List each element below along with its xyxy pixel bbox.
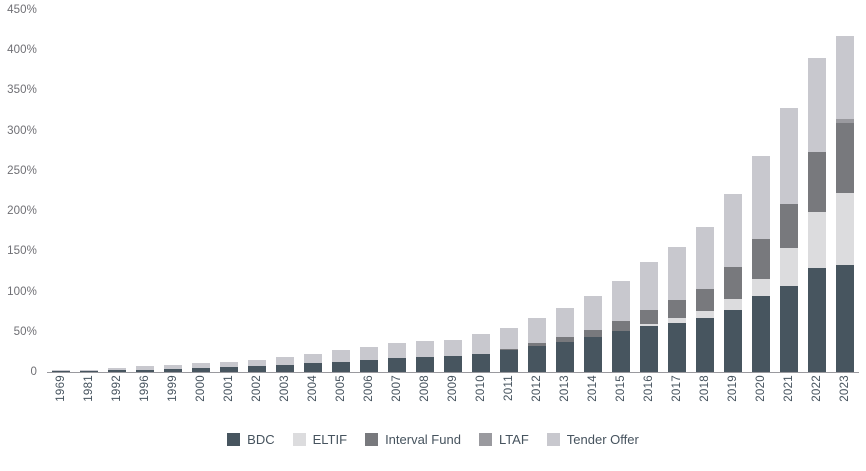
bar-segment: [724, 299, 742, 310]
bar-segment: [724, 194, 742, 267]
bar-segment: [416, 357, 434, 372]
x-axis-label-cell: 1969: [47, 375, 75, 423]
bar-segment: [584, 337, 602, 372]
bar-column[interactable]: [635, 10, 663, 372]
bar-segment: [696, 318, 714, 372]
x-axis-tick-label: 2015: [615, 375, 627, 402]
x-axis-label-cell: 2020: [747, 375, 775, 423]
chart-legend: BDCELTIFInterval FundLTAFTender Offer: [0, 432, 866, 447]
x-axis-tick-label: 1999: [167, 375, 179, 402]
bar-segment: [836, 123, 854, 193]
y-axis-tick-label: 0: [31, 366, 38, 378]
x-axis-label-cell: 2015: [607, 375, 635, 423]
bar-segment: [724, 310, 742, 372]
bar-stack: [640, 262, 658, 372]
bar-segment: [360, 347, 378, 360]
bar-segment: [444, 356, 462, 372]
bar-segment: [696, 289, 714, 311]
bar-stack: [220, 362, 238, 372]
bar-column[interactable]: [691, 10, 719, 372]
bar-segment: [304, 354, 322, 364]
bar-stack: [332, 350, 350, 372]
bar-stack: [668, 247, 686, 372]
bar-segment: [556, 342, 574, 372]
bar-segment: [584, 296, 602, 330]
plot-area: [47, 10, 859, 372]
bar-segment: [472, 354, 490, 373]
x-axis-label-cell: 2010: [467, 375, 495, 423]
bar-stack: [724, 194, 742, 372]
bar-column[interactable]: [271, 10, 299, 372]
bar-column[interactable]: [327, 10, 355, 372]
bar-segment: [668, 323, 686, 372]
legend-swatch-icon: [547, 433, 560, 446]
bar-segment: [808, 152, 826, 212]
x-axis-tick-label: 1969: [55, 375, 67, 402]
bar-segment: [640, 310, 658, 324]
x-axis-tick-label: 2011: [503, 375, 515, 401]
bar-segment: [724, 267, 742, 298]
bar-stack: [500, 328, 518, 372]
bar-stack: [304, 354, 322, 372]
legend-label: LTAF: [499, 432, 529, 447]
bar-column[interactable]: [467, 10, 495, 372]
bar-column[interactable]: [663, 10, 691, 372]
y-axis-tick-label: 350%: [7, 84, 37, 96]
bar-column[interactable]: [579, 10, 607, 372]
x-axis-tick-label: 2000: [195, 375, 207, 402]
bar-segment: [500, 328, 518, 350]
x-axis-tick-label: 2005: [335, 375, 347, 402]
bar-segment: [612, 321, 630, 331]
x-axis-tick-label: 2003: [279, 375, 291, 402]
x-axis-label-cell: 1992: [103, 375, 131, 423]
bar-column[interactable]: [299, 10, 327, 372]
x-axis-tick-label: 2006: [363, 375, 375, 402]
bar-segment: [780, 204, 798, 248]
x-axis-label-cell: 2007: [383, 375, 411, 423]
bar-segment: [388, 343, 406, 357]
legend-swatch-icon: [479, 433, 492, 446]
y-axis-tick-label: 100%: [7, 286, 37, 298]
y-axis-tick-label: 250%: [7, 165, 37, 177]
bar-segment: [276, 357, 294, 365]
x-axis-tick-label: 2010: [475, 375, 487, 402]
bar-column[interactable]: [159, 10, 187, 372]
y-axis-tick-label: 300%: [7, 125, 37, 137]
bar-segment: [472, 334, 490, 353]
bar-segment: [640, 262, 658, 310]
x-axis-tick-label: 2019: [727, 375, 739, 402]
bar-segment: [332, 362, 350, 372]
x-axis-tick-label: 2016: [643, 375, 655, 402]
x-axis-label-cell: 2000: [187, 375, 215, 423]
x-axis-tick-label: 2017: [671, 375, 683, 402]
x-axis-label-cell: 2011: [495, 375, 523, 423]
bar-segment: [668, 247, 686, 300]
bar-segment: [808, 58, 826, 153]
bar-column[interactable]: [215, 10, 243, 372]
x-axis-tick-label: 2013: [559, 375, 571, 402]
x-axis-label-cell: 2004: [299, 375, 327, 423]
bar-segment: [640, 326, 658, 372]
bar-segment: [808, 268, 826, 372]
x-axis-label-cell: 2014: [579, 375, 607, 423]
bar-column[interactable]: [383, 10, 411, 372]
bar-column[interactable]: [75, 10, 103, 372]
bar-column[interactable]: [803, 10, 831, 372]
bar-segment: [304, 363, 322, 372]
x-axis-label-cell: 2012: [523, 375, 551, 423]
x-axis-tick-label: 2001: [223, 375, 235, 402]
bar-column[interactable]: [131, 10, 159, 372]
bar-stack: [444, 340, 462, 372]
bar-stack: [696, 227, 714, 372]
bar-stack: [388, 343, 406, 372]
bar-segment: [416, 341, 434, 356]
x-axis-tick-label: 2018: [699, 375, 711, 402]
x-axis-label-cell: 2001: [215, 375, 243, 423]
x-axis-label-cell: 2008: [411, 375, 439, 423]
bar-segment: [696, 311, 714, 318]
bar-column[interactable]: [607, 10, 635, 372]
legend-label: ELTIF: [313, 432, 347, 447]
bar-segment: [388, 358, 406, 372]
bar-stack: [836, 36, 854, 372]
x-axis-label-cell: 2018: [691, 375, 719, 423]
bar-segment: [780, 248, 798, 286]
bar-segment: [276, 365, 294, 372]
bar-segment: [808, 212, 826, 268]
x-axis-tick-label: 2021: [783, 375, 795, 402]
bar-stack: [584, 296, 602, 372]
x-axis-label-cell: 1981: [75, 375, 103, 423]
bar-segment: [836, 36, 854, 119]
bar-stack: [472, 334, 490, 372]
bar-column[interactable]: [47, 10, 75, 372]
bar-column[interactable]: [411, 10, 439, 372]
x-axis-tick-label: 2022: [811, 375, 823, 402]
bar-stack: [528, 318, 546, 372]
y-axis-tick-label: 450%: [7, 4, 37, 16]
legend-label: Interval Fund: [385, 432, 461, 447]
bar-stack: [780, 108, 798, 372]
bar-column[interactable]: [551, 10, 579, 372]
x-axis-label-cell: 2002: [243, 375, 271, 423]
legend-swatch-icon: [365, 433, 378, 446]
bar-column[interactable]: [775, 10, 803, 372]
x-axis-tick-label: 2014: [587, 375, 599, 402]
x-axis-label-cell: 2022: [803, 375, 831, 423]
bar-column[interactable]: [719, 10, 747, 372]
x-axis-labels: 1969198119921996199920002001200220032004…: [47, 375, 859, 423]
y-axis: 450%400%350%300%250%200%150%100%50%0: [0, 10, 43, 372]
legend-label: Tender Offer: [567, 432, 639, 447]
x-axis-tick-label: 1981: [83, 375, 95, 402]
y-axis-tick-label: 50%: [14, 326, 37, 338]
y-axis-tick-label: 150%: [7, 245, 37, 257]
bar-column[interactable]: [243, 10, 271, 372]
x-axis-tick-label: 2002: [251, 375, 263, 402]
bar-segment: [696, 227, 714, 289]
legend-item[interactable]: Interval Fund: [365, 432, 461, 447]
x-axis-tick-label: 2007: [391, 375, 403, 402]
bar-stack: [360, 347, 378, 372]
bar-stack: [556, 308, 574, 372]
bar-column[interactable]: [523, 10, 551, 372]
legend-item[interactable]: BDC: [227, 432, 274, 447]
bar-segment: [780, 108, 798, 204]
bar-segment: [612, 331, 630, 372]
bar-stack: [276, 357, 294, 372]
bar-segment: [668, 300, 686, 319]
bar-segment: [332, 350, 350, 361]
bar-stack: [612, 281, 630, 372]
bar-segment: [528, 346, 546, 372]
x-axis-label-cell: 2017: [663, 375, 691, 423]
bar-segment: [528, 318, 546, 343]
bar-column[interactable]: [103, 10, 131, 372]
bar-stack: [192, 363, 210, 372]
bar-segment: [360, 360, 378, 372]
bar-segment: [836, 265, 854, 372]
x-axis-label-cell: 2003: [271, 375, 299, 423]
x-axis-tick-label: 2020: [755, 375, 767, 402]
bar-segment: [500, 350, 518, 372]
bar-column[interactable]: [831, 10, 859, 372]
x-axis-label-cell: 2021: [775, 375, 803, 423]
stacked-bar-chart: 450%400%350%300%250%200%150%100%50%0 196…: [0, 0, 866, 471]
y-axis-tick-label: 400%: [7, 44, 37, 56]
x-axis-label-cell: 2013: [551, 375, 579, 423]
x-axis-label-cell: 2016: [635, 375, 663, 423]
bar-column[interactable]: [187, 10, 215, 372]
bar-segment: [556, 308, 574, 337]
legend-item[interactable]: Tender Offer: [547, 432, 639, 447]
x-axis-label-cell: 1999: [159, 375, 187, 423]
bar-column[interactable]: [747, 10, 775, 372]
x-axis-tick-label: 1992: [111, 375, 123, 402]
bars-layer: [47, 10, 859, 372]
bar-segment: [612, 281, 630, 321]
bar-column[interactable]: [495, 10, 523, 372]
bar-stack: [808, 58, 826, 373]
x-axis-label-cell: 2023: [831, 375, 859, 423]
bar-segment: [780, 286, 798, 372]
bar-stack: [752, 156, 770, 372]
legend-swatch-icon: [227, 433, 240, 446]
bar-column[interactable]: [439, 10, 467, 372]
bar-segment: [752, 296, 770, 372]
x-axis-tick-label: 2012: [531, 375, 543, 402]
bar-segment: [752, 239, 770, 278]
bar-stack: [416, 341, 434, 372]
legend-label: BDC: [247, 432, 274, 447]
x-axis-tick-label: 2008: [419, 375, 431, 402]
bar-segment: [444, 340, 462, 356]
legend-item[interactable]: LTAF: [479, 432, 529, 447]
x-axis-label-cell: 2019: [719, 375, 747, 423]
bar-segment: [836, 193, 854, 265]
bar-stack: [248, 360, 266, 372]
bar-column[interactable]: [355, 10, 383, 372]
x-axis-label-cell: 1996: [131, 375, 159, 423]
legend-item[interactable]: ELTIF: [293, 432, 347, 447]
x-axis-tick-label: 2004: [307, 375, 319, 402]
legend-swatch-icon: [293, 433, 306, 446]
x-axis-label-cell: 2009: [439, 375, 467, 423]
y-axis-tick-label: 200%: [7, 205, 37, 217]
bar-stack: [164, 365, 182, 372]
x-axis-label-cell: 2005: [327, 375, 355, 423]
bar-segment: [752, 279, 770, 297]
x-axis-label-cell: 2006: [355, 375, 383, 423]
x-axis-tick-label: 1996: [139, 375, 151, 402]
x-axis-tick-label: 2009: [447, 375, 459, 402]
x-axis-tick-label: 2023: [839, 375, 851, 402]
x-axis-line: [47, 372, 859, 373]
bar-segment: [752, 156, 770, 239]
